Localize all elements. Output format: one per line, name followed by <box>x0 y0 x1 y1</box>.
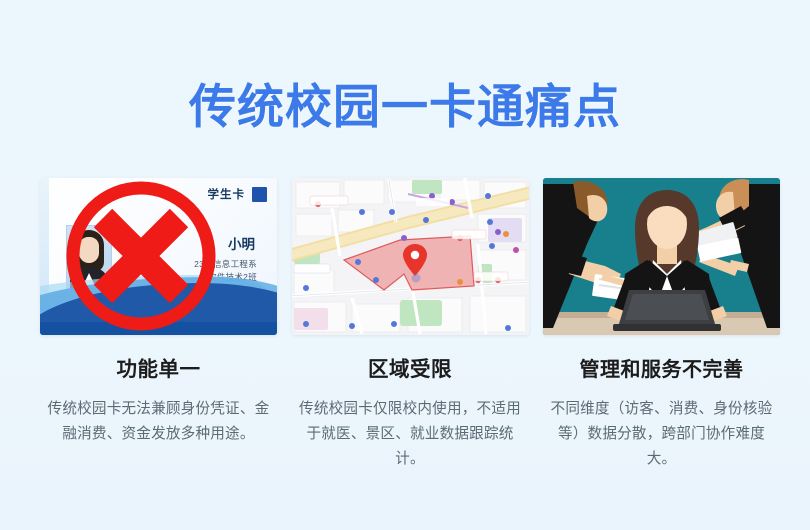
office-worker-image <box>543 178 780 335</box>
school-logo-icon <box>252 187 267 202</box>
pain-point-card-function-single: 学生卡 小明 23级信息工程系 软件技术2班 <box>40 178 277 472</box>
office-illustration <box>543 178 780 335</box>
page-title: 传统校园一卡通痛点 <box>0 79 810 135</box>
map-canvas <box>292 178 529 335</box>
card-description: 传统校园卡无法兼顾身份凭证、金融消费、资金发放多种用途。 <box>47 397 271 447</box>
pain-point-cards: 学生卡 小明 23级信息工程系 软件技术2班 <box>40 178 780 472</box>
card-description: 不同维度（访客、消费、身份核验等）数据分散，跨部门协作难度大。 <box>550 397 774 472</box>
pain-point-card-management-service: 管理和服务不完善 不同维度（访客、消费、身份核验等）数据分散，跨部门协作难度大。 <box>543 178 780 472</box>
slide-root: 传统校园一卡通痛点 学生卡 小明 <box>0 0 810 530</box>
pain-point-card-area-limited: 区域受限 传统校园卡仅限校内使用，不适用于就医、景区、就业数据跟踪统计。 <box>292 178 529 472</box>
campus-map-image <box>292 178 529 335</box>
student-id-card-illustration: 学生卡 小明 23级信息工程系 软件技术2班 <box>40 178 277 335</box>
student-card-image: 学生卡 小明 23级信息工程系 软件技术2班 <box>40 178 277 335</box>
card-title: 功能单一 <box>117 357 201 383</box>
office-canvas <box>543 178 780 335</box>
student-name: 小明 <box>228 233 255 253</box>
card-title: 管理和服务不完善 <box>580 357 744 383</box>
map-illustration <box>292 178 529 335</box>
card-title: 区域受限 <box>368 357 452 383</box>
red-cross-prohibition-icon <box>54 178 229 335</box>
card-description: 传统校园卡仅限校内使用，不适用于就医、景区、就业数据跟踪统计。 <box>298 397 522 472</box>
